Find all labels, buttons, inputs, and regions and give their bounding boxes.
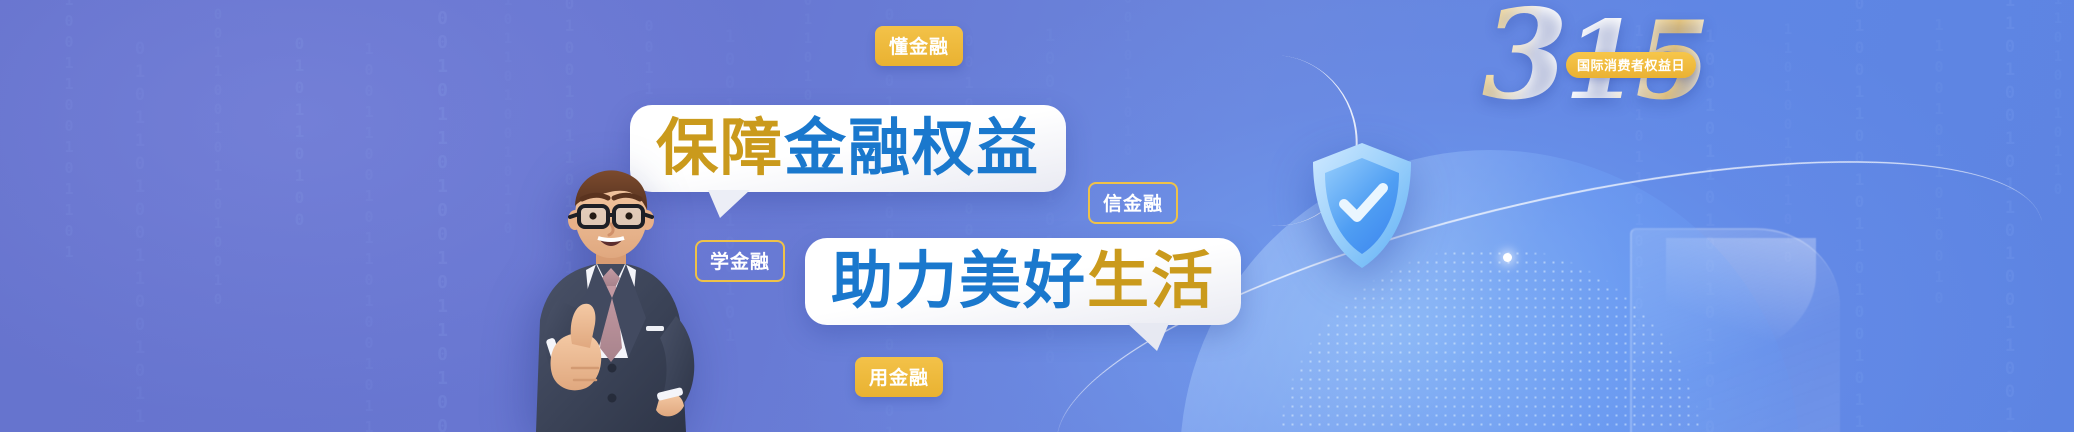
binary-column: 11010010110 [2050, 0, 2066, 201]
binary-column: 1001011010 [1120, 0, 1136, 162]
headline-2-gold: 生活 [1087, 244, 1215, 317]
tag-xin-jinrong: 信金融 [1088, 182, 1178, 224]
binary-column: 0011001011010010 [210, 7, 226, 311]
headline-2-blue: 助力美好 [831, 244, 1087, 317]
binary-column: 1001011010010110100 [432, 0, 453, 432]
binary-column: 1001100101101 [60, 0, 78, 264]
shield-check-icon [1307, 140, 1417, 272]
headline-bubble-2: 助力美好生活 [805, 238, 1241, 325]
promo-banner: 1001100101101010110100110010110100011001… [0, 0, 2074, 432]
logo-digit-3: 3 [1482, 0, 1564, 128]
businessman-thumbs-up [500, 168, 720, 432]
consumer-rights-day-badge: 国际消费者权益日 [1566, 52, 1696, 78]
orbit-dot [1503, 253, 1512, 262]
binary-column: 010110100 [290, 34, 309, 232]
bubble-2-tail [1127, 323, 1169, 351]
binary-column: 01011010011001011010 [130, 39, 150, 432]
binary-column: 100110010110100101101 [360, 40, 378, 432]
tag-dong-jinrong: 懂金融 [875, 26, 963, 66]
tag-yong-jinrong: 用金融 [855, 357, 943, 397]
headline-1-blue: 金融权益 [784, 111, 1040, 184]
